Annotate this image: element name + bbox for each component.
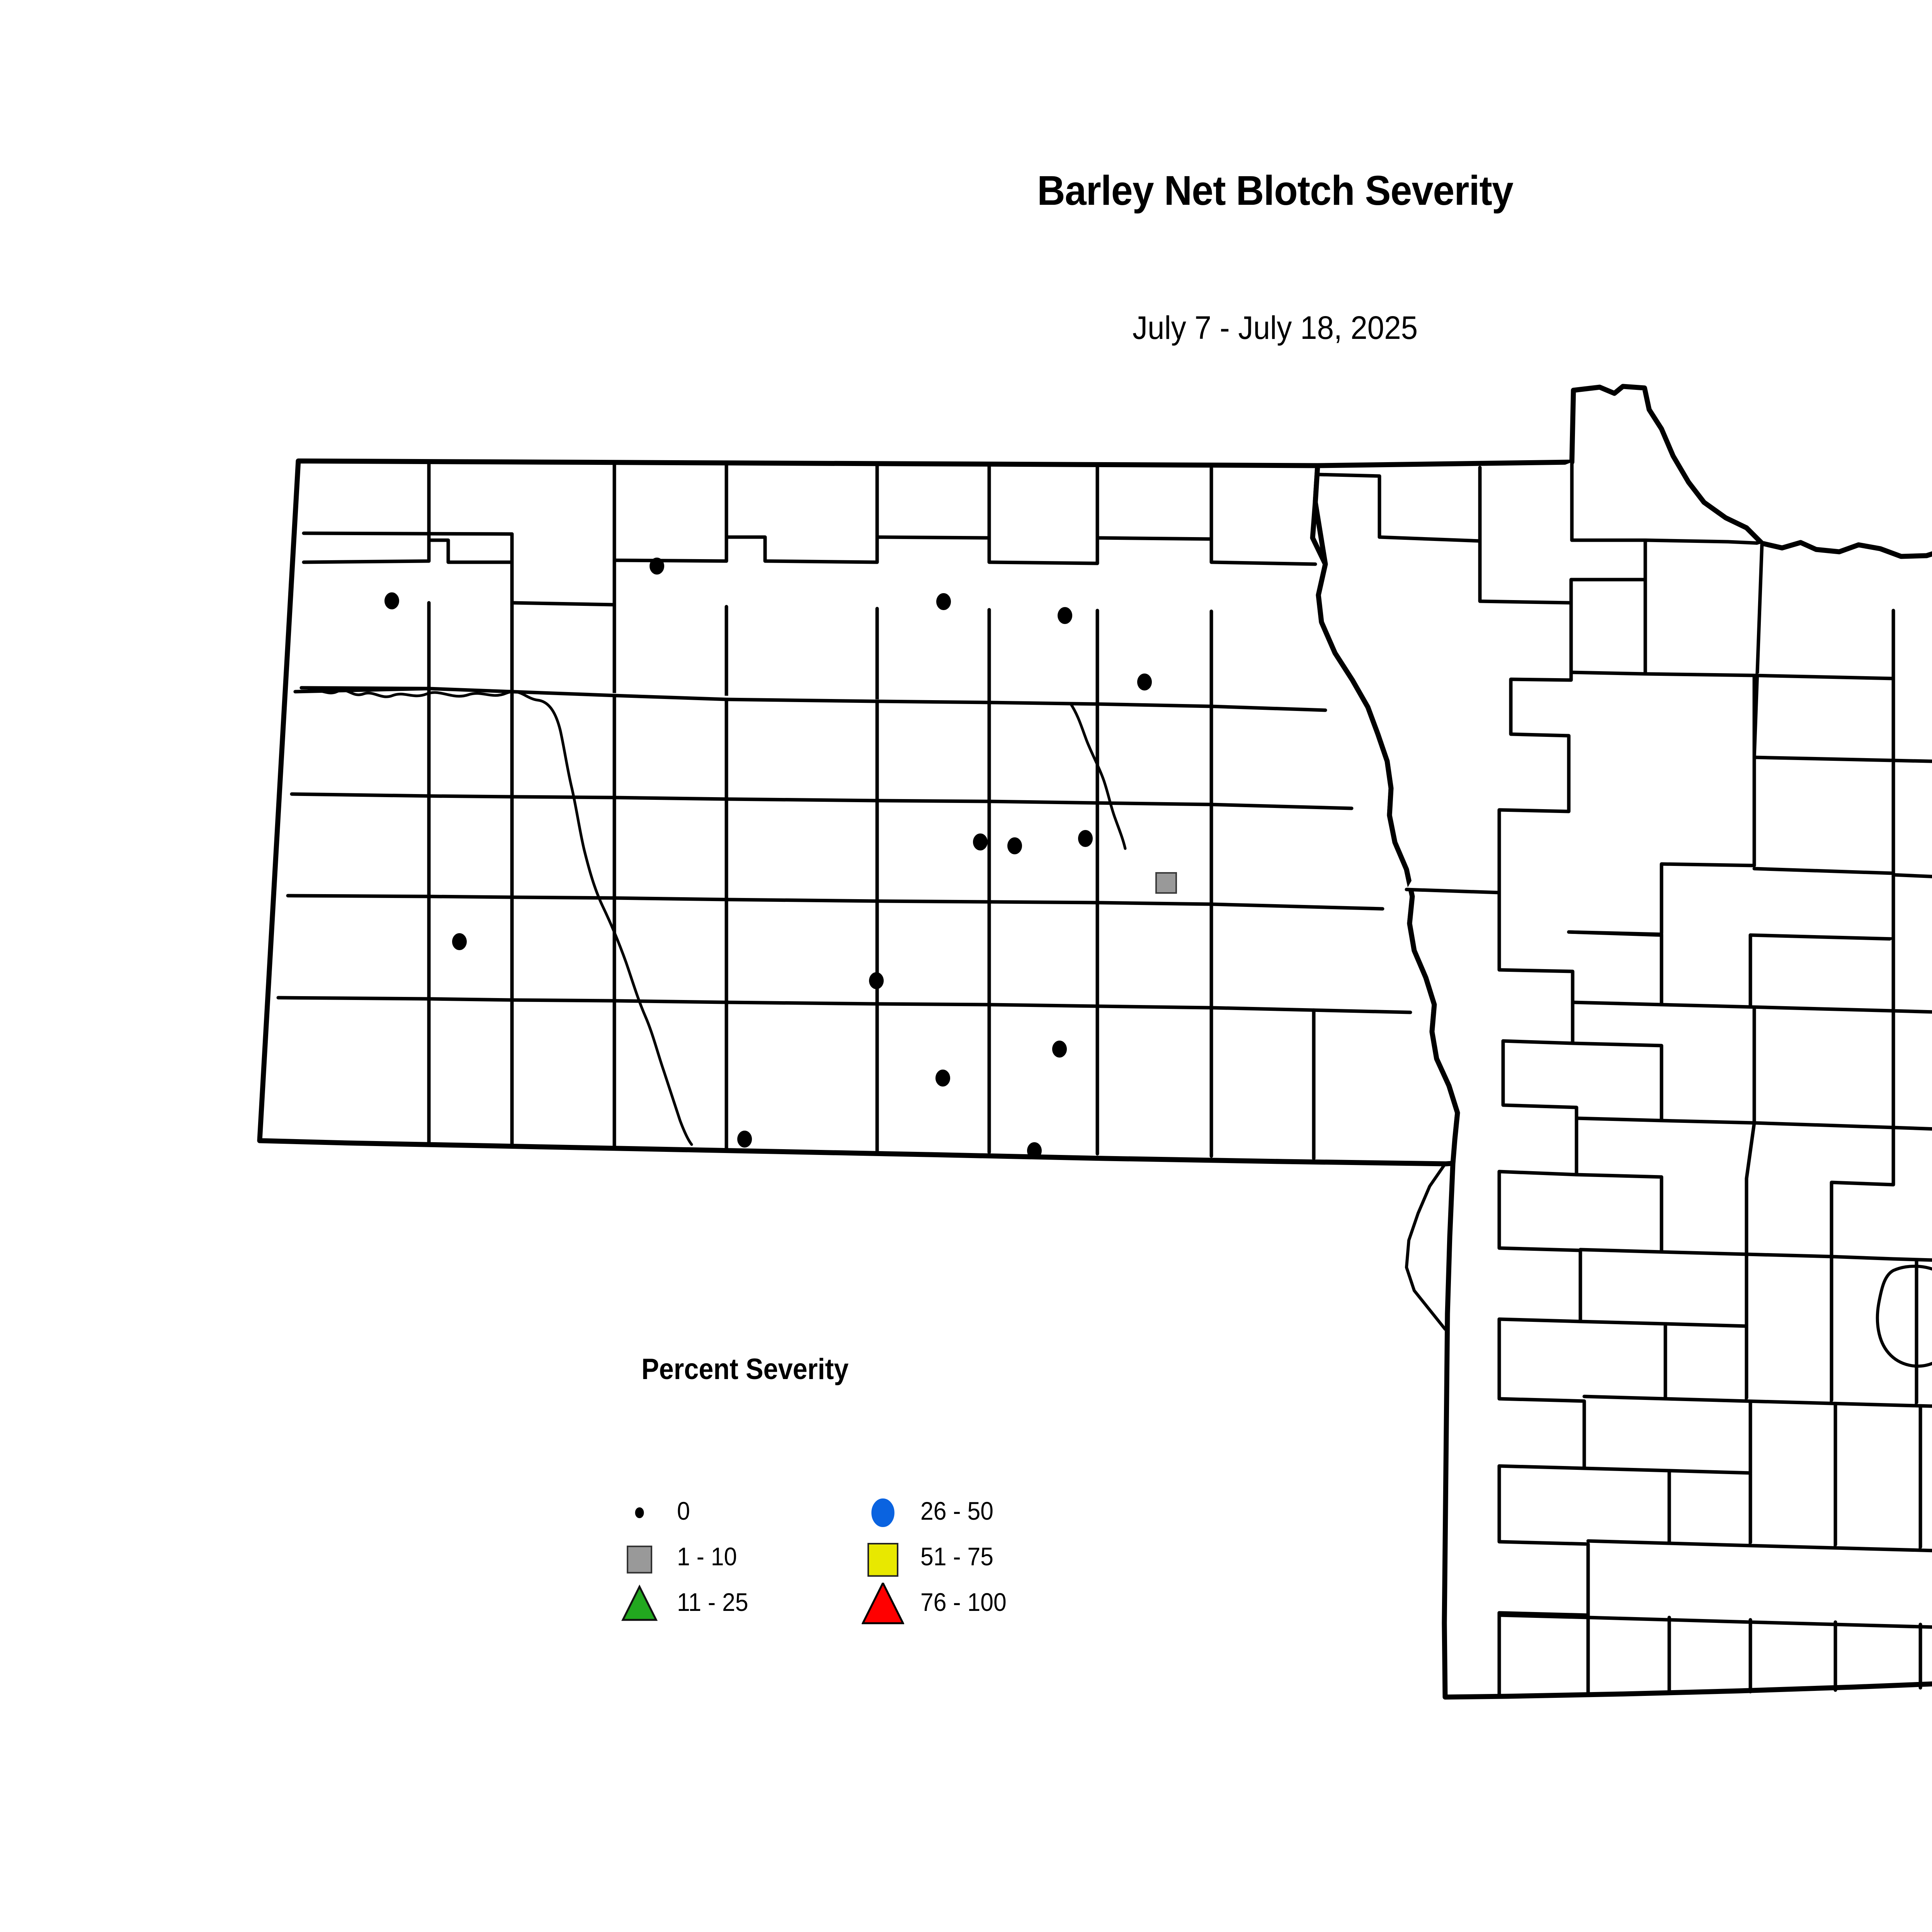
map-marker[interactable] <box>1078 830 1093 847</box>
legend-triangle-icon <box>618 1583 661 1625</box>
map-marker[interactable] <box>452 933 467 950</box>
legend-triangle-icon <box>862 1583 904 1625</box>
map-marker[interactable] <box>973 833 988 850</box>
legend-label: 0 <box>677 1496 690 1526</box>
legend-square-icon <box>862 1537 904 1580</box>
legend-circle-icon <box>618 1492 661 1534</box>
legend: Percent Severity 01 - 1011 - 25 26 - 505… <box>618 1352 1159 1646</box>
map-marker[interactable] <box>1156 873 1176 893</box>
map-marker[interactable] <box>935 1070 950 1087</box>
legend-title: Percent Severity <box>641 1352 849 1386</box>
map-marker[interactable] <box>936 593 951 610</box>
map-page: Barley Net Blotch Severity July 7 - July… <box>0 0 1932 1932</box>
map-marker[interactable] <box>1007 837 1022 854</box>
legend-label: 51 - 75 <box>920 1542 993 1571</box>
mn-west-jag <box>1406 1164 1445 1329</box>
legend-label: 1 - 10 <box>677 1542 737 1571</box>
map-marker[interactable] <box>384 592 399 609</box>
map-marker[interactable] <box>1027 1142 1042 1159</box>
map-marker[interactable] <box>869 972 884 989</box>
map-marker[interactable] <box>650 558 664 575</box>
map-marker[interactable] <box>1058 607 1072 624</box>
legend-circle-icon <box>862 1492 904 1534</box>
legend-label: 76 - 100 <box>920 1587 1007 1617</box>
map-marker[interactable] <box>1137 673 1152 690</box>
map-marker[interactable] <box>737 1131 752 1148</box>
legend-label: 26 - 50 <box>920 1496 993 1526</box>
map-marker[interactable] <box>1052 1041 1067 1058</box>
legend-square-icon <box>618 1537 661 1580</box>
legend-label: 11 - 25 <box>677 1587 748 1617</box>
